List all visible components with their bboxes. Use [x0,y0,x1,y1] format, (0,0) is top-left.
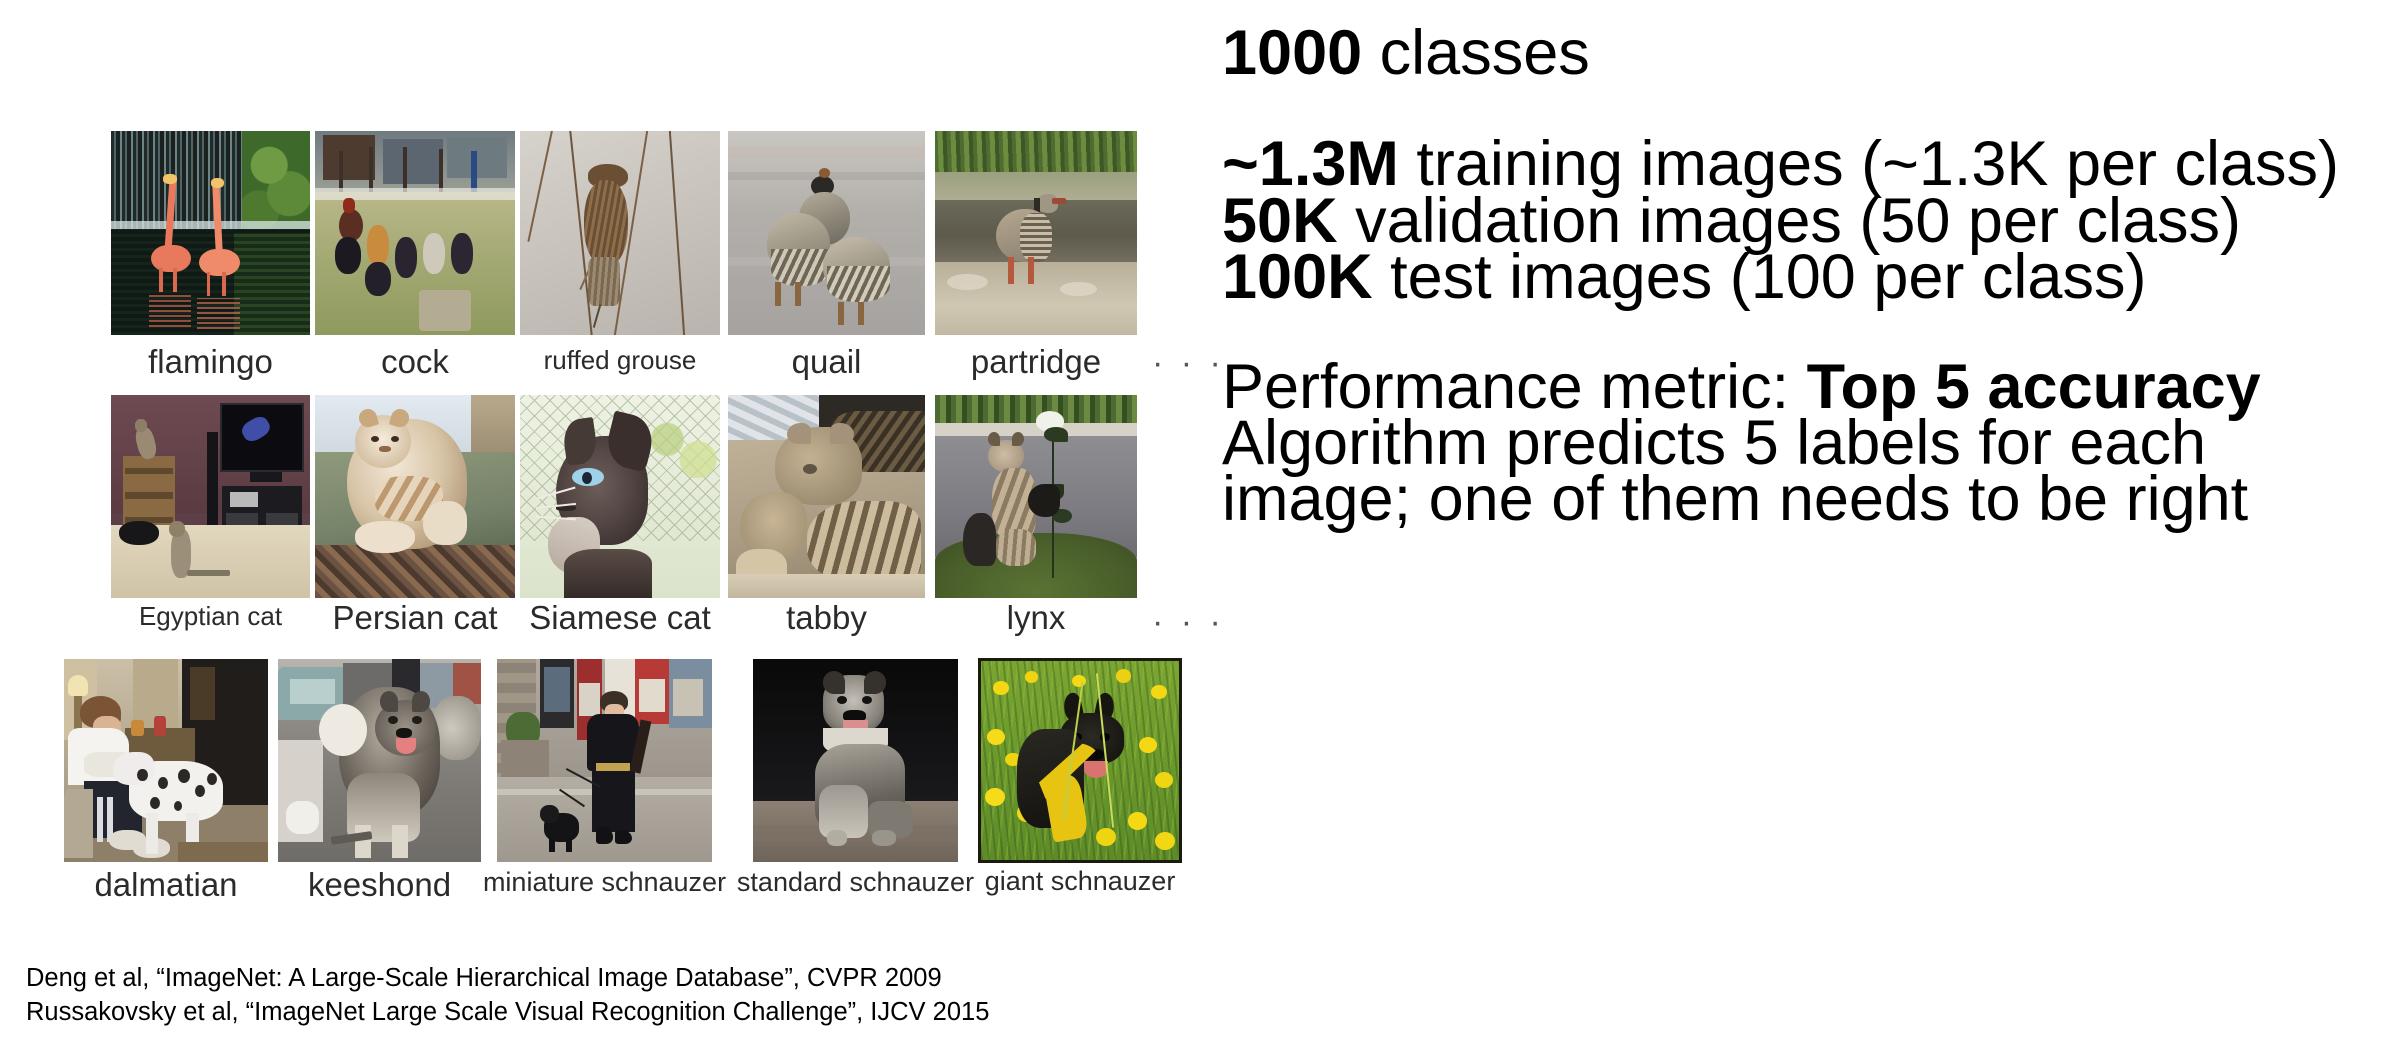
photo-standard-schnauzer [753,659,958,862]
grid-cell-label: tabby [786,601,867,634]
photo-giant-schnauzer [978,658,1182,863]
stat-classes-value: 1000 [1222,18,1362,88]
stat-test-label: test images (100 per class) [1373,242,2147,312]
metric-line-3: image; one of them needs to be right [1222,468,2248,531]
grid-cell-label: partridge [971,345,1101,378]
photo-egyptian-cat [111,395,310,598]
grid-cell-label: Persian cat [332,601,497,634]
row-ellipsis: · · · [1152,344,1225,383]
stat-test-value: 100K [1222,242,1373,312]
citation-russakovsky: Russakovsky et al, “ImageNet Large Scale… [26,996,989,1030]
grid-cell-label: keeshond [308,868,451,901]
citation-block: Deng et al, “ImageNet: A Large-Scale Hie… [26,962,989,1030]
grid-cell-label: flamingo [148,345,273,378]
grid-cell-dalmatian: dalmatian [64,659,268,862]
grid-cell-label: cock [381,345,449,378]
grid-cell-giant-schnauzer: giant schnauzer [978,658,1182,863]
grid-cell-egyptian-cat: Egyptian cat [111,395,310,598]
grid-cell-standard-schnauzer: standard schnauzer [753,659,958,862]
grid-cell-tabby: tabby [728,395,925,598]
photo-tabby [728,395,925,598]
row-ellipsis: · · · [1152,603,1225,642]
photo-keeshond [278,659,481,862]
grid-cell-label: ruffed grouse [544,347,697,373]
grid-cell-persian-cat: Persian cat [315,395,515,598]
stats-text-column: 1000 classes ~1.3M training images (~1.3… [1222,0,2392,900]
grid-cell-miniature-schnauzer: miniature schnauzer [497,659,712,862]
stat-classes: 1000 classes [1222,22,1590,85]
citation-deng: Deng et al, “ImageNet: A Large-Scale Hie… [26,962,989,996]
grid-cell-keeshond: keeshond [278,659,481,862]
grid-cell-label: miniature schnauzer [483,869,726,896]
grid-cell-label: dalmatian [94,868,237,901]
grid-cell-label: quail [792,345,862,378]
photo-miniature-schnauzer [497,659,712,862]
grid-cell-label: standard schnauzer [737,869,974,896]
grid-row-dogs: dalmatian [0,0,1230,280]
grid-cell-label: lynx [1007,601,1066,634]
grid-cell-label: Siamese cat [529,601,711,634]
photo-lynx [935,395,1137,598]
grid-cell-siamese-cat: Siamese cat [520,395,720,598]
grid-cell-lynx: lynx [935,395,1137,598]
photo-dalmatian [64,659,268,862]
photo-persian-cat [315,395,515,598]
photo-siamese-cat [520,395,720,598]
stat-classes-label: classes [1362,18,1590,88]
grid-cell-label: Egyptian cat [139,603,282,629]
grid-cell-label: giant schnauzer [985,868,1176,895]
stat-test: 100K test images (100 per class) [1222,246,2146,309]
imagenet-sample-grid: flamingo [0,0,1230,930]
